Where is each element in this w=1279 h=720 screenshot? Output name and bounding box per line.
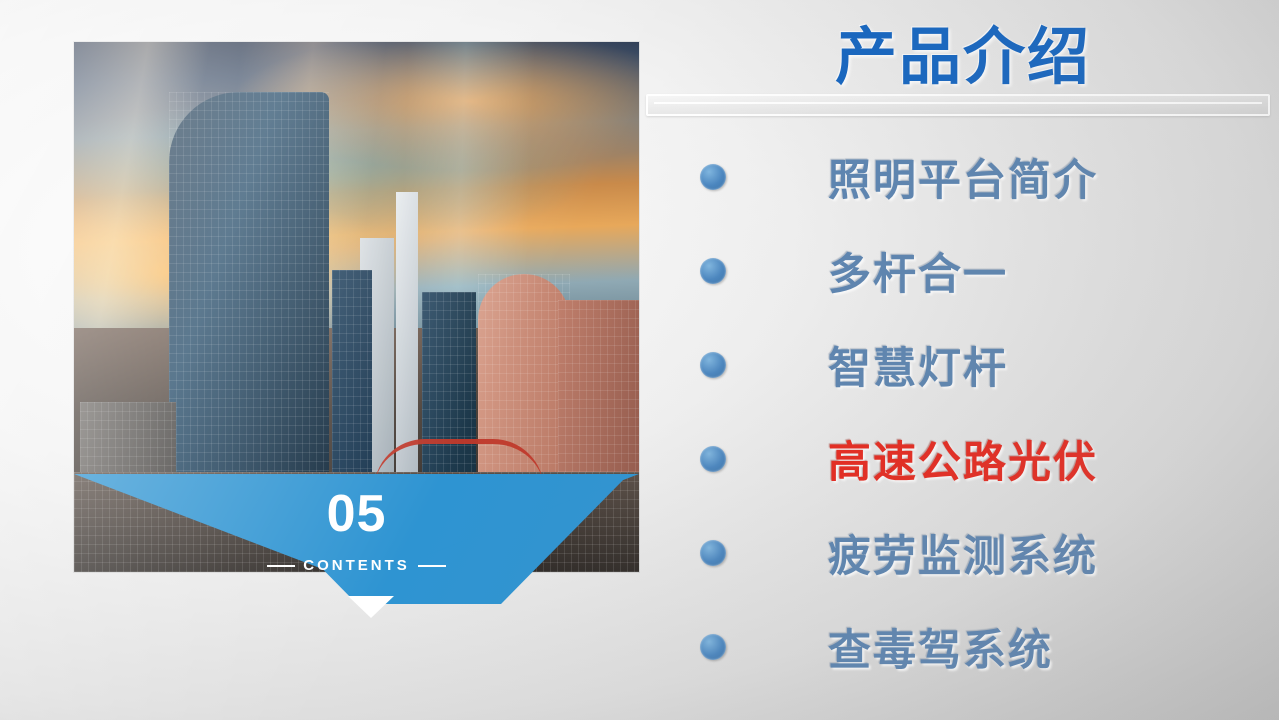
list-item-label: 查毒驾系统 <box>828 616 1053 678</box>
list-item-label: 多杆合一 <box>828 240 1008 302</box>
label-dash-left <box>267 565 295 567</box>
bullet-icon <box>700 540 726 566</box>
down-caret-icon <box>348 596 394 618</box>
label-dash-right <box>418 565 446 567</box>
list-item-active[interactable]: 高速公路光伏 <box>700 412 1260 506</box>
list-item-label: 照明平台简介 <box>828 146 1098 208</box>
bullet-icon <box>700 634 726 660</box>
list-item[interactable]: 疲劳监测系统 <box>700 506 1260 600</box>
bullet-icon <box>700 164 726 190</box>
bullet-icon <box>700 258 726 284</box>
contents-label-text: CONTENTS <box>303 557 410 574</box>
building-curved-glass <box>169 92 329 522</box>
contents-label: CONTENTS <box>74 557 639 574</box>
list-item-label: 疲劳监测系统 <box>828 522 1098 584</box>
agenda-list: 照明平台简介 多杆合一 智慧灯杆 高速公路光伏 疲劳监测系统 查毒驾系统 <box>700 130 1260 694</box>
section-number: 05 <box>74 488 639 540</box>
bullet-icon <box>700 352 726 378</box>
bullet-icon <box>700 446 726 472</box>
list-item-label: 智慧灯杆 <box>828 334 1008 396</box>
slide-canvas: 05 CONTENTS 产品介绍 照明平台简介 多杆合一 智慧灯杆 高速公路光伏… <box>0 0 1279 720</box>
list-item[interactable]: 查毒驾系统 <box>700 600 1260 694</box>
title-divider <box>646 94 1270 116</box>
page-title: 产品介绍 <box>648 6 1278 96</box>
window-grid <box>169 92 329 522</box>
list-item-label: 高速公路光伏 <box>828 428 1098 490</box>
contents-banner: 05 CONTENTS <box>74 474 639 644</box>
list-item[interactable]: 多杆合一 <box>700 224 1260 318</box>
list-item[interactable]: 照明平台简介 <box>700 130 1260 224</box>
list-item[interactable]: 智慧灯杆 <box>700 318 1260 412</box>
